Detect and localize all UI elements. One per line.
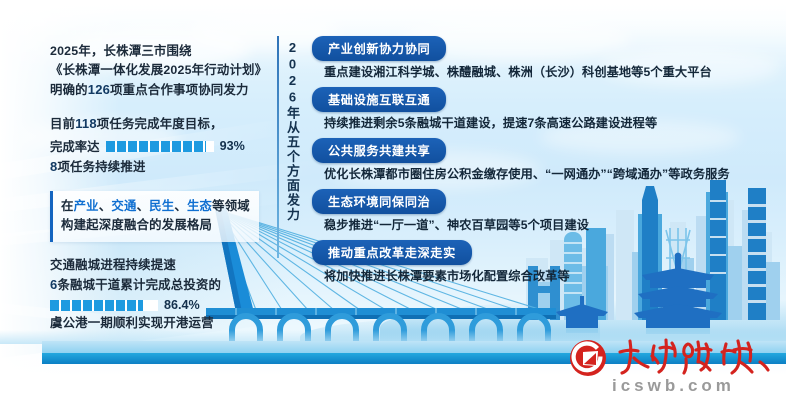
field-livelihood: 民生 bbox=[149, 199, 174, 213]
fields-suffix: 等领域 bbox=[212, 199, 250, 213]
field-sep: 、 bbox=[99, 199, 112, 213]
progress-segment-mask bbox=[50, 300, 158, 311]
column-divider bbox=[277, 36, 279, 258]
field-transport: 交通 bbox=[111, 199, 136, 213]
completion-rate-row: 完成率达 93% bbox=[50, 137, 272, 155]
stat-block-plan: 2025年，长株潭三市围绕 《长株潭一体化发展2025年行动计划》 明确的126… bbox=[50, 42, 272, 100]
completion-rate-value: 93% bbox=[220, 139, 245, 153]
plan-line-3: 明确的126项重点合作事项协同发力 bbox=[50, 80, 272, 100]
stat-block-transport: 交通融城进程持续提速 6条融城干道累计完成总投资的 86.4% 虞公港一期顺利实… bbox=[50, 256, 272, 333]
measure-item: 生态环境同保同治 稳步推进“一厅一道”、神农百草园等5个项目建设 bbox=[312, 189, 780, 234]
field-sep: 、 bbox=[137, 199, 150, 213]
plan-line-2: 《长株潭一体化发展2025年行动计划》 bbox=[50, 61, 272, 80]
measure-item: 推动重点改革走深走实 将加快推进长株潭要素市场化配置综合改革等 bbox=[312, 240, 780, 285]
plan-line-3-suffix: 项重点合作事项协同发力 bbox=[110, 83, 249, 97]
plan-item-count: 126 bbox=[88, 82, 110, 97]
stat-block-fields: 在产业、交通、民生、生态等领域 构建起深度融合的发展格局 bbox=[50, 191, 272, 242]
changsha-evening-news-mark-icon bbox=[568, 338, 608, 378]
fields-prefix: 在 bbox=[61, 199, 74, 213]
vertical-section-title: 2026年从五个方面发力 bbox=[281, 40, 303, 252]
measure-item: 产业创新协力协同 重点建设湘江科学城、株醴融城、株洲（长沙）科创基地等5个重大平… bbox=[312, 36, 780, 81]
measure-pill-infrastructure[interactable]: 基础设施互联互通 bbox=[312, 87, 446, 112]
measure-pill-public-service[interactable]: 公共服务共建共享 bbox=[312, 138, 446, 163]
website-url[interactable]: icswb.com bbox=[612, 376, 735, 396]
measure-item: 公共服务共建共享 优化长株潭都市圈住房公积金缴存使用、“一网通办”“跨域通办”等… bbox=[312, 138, 780, 183]
fields-line-2: 构建起深度融合的发展格局 bbox=[61, 216, 250, 235]
right-measures-column: 产业创新协力协同 重点建设湘江科学城、株醴融城、株洲（长沙）科创基地等5个重大平… bbox=[312, 36, 780, 291]
plan-line-3-prefix: 明确的 bbox=[50, 83, 88, 97]
investment-rate-row: 86.4% bbox=[50, 298, 272, 312]
fields-line-1: 在产业、交通、民生、生态等领域 bbox=[61, 197, 250, 216]
infographic-poster: 2025年，长株潭三市围绕 《长株潭一体化发展2025年行动计划》 明确的126… bbox=[0, 0, 786, 403]
field-industry: 产业 bbox=[74, 199, 99, 213]
transport-line-2: 6条融城干道累计完成总投资的 bbox=[50, 275, 272, 295]
plan-line-1: 2025年，长株潭三市围绕 bbox=[50, 42, 272, 61]
measure-pill-reform[interactable]: 推动重点改革走深走实 bbox=[312, 240, 472, 265]
completed-task-count: 118 bbox=[75, 116, 97, 131]
measure-pill-ecology[interactable]: 生态环境同保同治 bbox=[312, 189, 446, 214]
completion-line-3: 8项任务持续推进 bbox=[50, 157, 272, 177]
transport-line-1: 交通融城进程持续提速 bbox=[50, 256, 272, 275]
measure-desc-ecology: 稳步推进“一厅一道”、神农百草园等5个项目建设 bbox=[324, 217, 780, 234]
investment-rate-progressbar bbox=[50, 300, 158, 311]
transport-line-4: 虞公港一期顺利实现开港运营 bbox=[50, 314, 272, 333]
field-ecology: 生态 bbox=[187, 199, 212, 213]
measure-pill-industry[interactable]: 产业创新协力协同 bbox=[312, 36, 446, 61]
stat-block-completion: 目前118项任务完成年度目标， 完成率达 93% 8项任务持续推进 bbox=[50, 114, 272, 177]
fields-highlight-box: 在产业、交通、民生、生态等领域 构建起深度融合的发展格局 bbox=[50, 191, 259, 242]
measure-desc-reform: 将加快推进长株潭要素市场化配置综合改革等 bbox=[324, 268, 780, 285]
completion-prefix: 目前 bbox=[50, 117, 75, 131]
measure-item: 基础设施互联互通 持续推进剩余5条融城干道建设，提速7条高速公路建设进程等 bbox=[312, 87, 780, 132]
ongoing-task-text: 项任务持续推进 bbox=[57, 160, 145, 174]
left-statistics-column: 2025年，长株潭三市围绕 《长株潭一体化发展2025年行动计划》 明确的126… bbox=[50, 42, 272, 347]
completion-rate-progressbar bbox=[106, 141, 214, 152]
completion-suffix: 项任务完成年度目标， bbox=[97, 117, 223, 131]
investment-rate-value: 86.4% bbox=[164, 298, 200, 312]
measure-desc-public-service: 优化长株潭都市圈住房公积金缴存使用、“一网通办”“跨域通办”等政务服务 bbox=[324, 166, 780, 183]
completion-line-1: 目前118项任务完成年度目标， bbox=[50, 114, 272, 134]
brand-wordmark bbox=[614, 334, 778, 378]
publisher-logo[interactable]: icswb.com bbox=[568, 336, 778, 398]
field-sep: 、 bbox=[174, 199, 187, 213]
measure-desc-industry: 重点建设湘江科学城、株醴融城、株洲（长沙）科创基地等5个重大平台 bbox=[324, 64, 780, 81]
corridor-text: 条融城干道累计完成总投资的 bbox=[57, 278, 221, 292]
completion-rate-label: 完成率达 bbox=[50, 137, 100, 155]
measure-desc-infrastructure: 持续推进剩余5条融城干道建设，提速7条高速公路建设进程等 bbox=[324, 115, 780, 132]
progress-segment-mask bbox=[106, 141, 214, 152]
